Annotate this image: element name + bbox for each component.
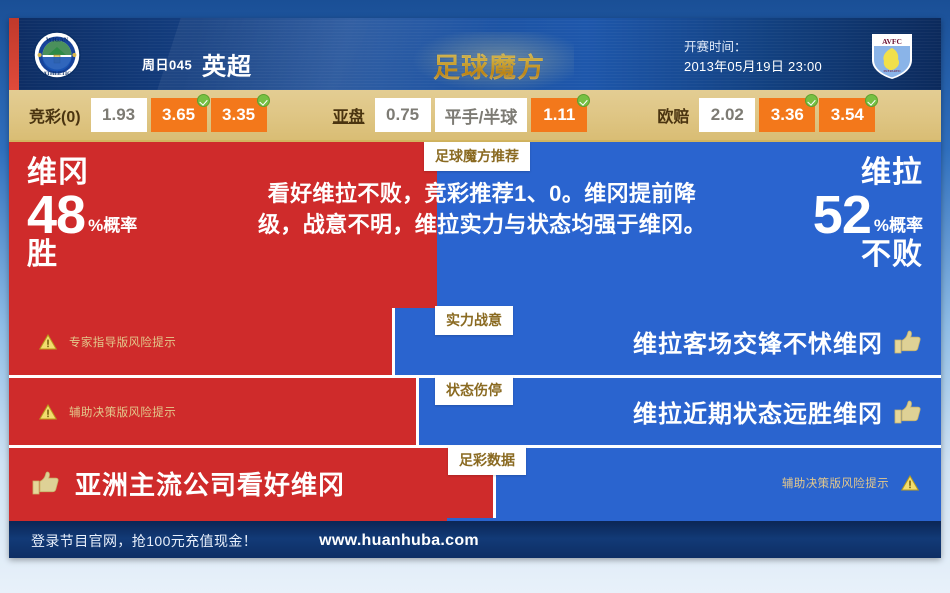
risk-text: 辅助决策版风险提示 bbox=[782, 475, 889, 491]
warning-icon bbox=[39, 334, 57, 350]
row-badge: 状态伤停 bbox=[435, 376, 513, 405]
row-badge: 实力战意 bbox=[435, 306, 513, 335]
odds-bar: 竞彩(0) 1.93 3.65 3.35 亚盘 0.75 平手/半球 1.11 … bbox=[9, 90, 941, 142]
kickoff-label: 开赛时间： bbox=[684, 38, 822, 57]
recommendation-panel: 维冈 48 %概率 胜 维拉 52 %概率 不败 足球魔方推荐 看好维拉不败，竞… bbox=[9, 142, 941, 308]
check-icon bbox=[197, 94, 210, 107]
row-risk-panel-right: 足彩数据 辅助决策版风险提示 bbox=[496, 448, 941, 518]
odds-chip-value: 3.54 bbox=[831, 105, 864, 125]
thumbs-up-icon bbox=[893, 399, 923, 425]
away-team-crest-icon: AVFC PREPARED bbox=[869, 31, 915, 79]
league-name: 英超 bbox=[202, 47, 252, 82]
odds-chip-value: 1.11 bbox=[543, 105, 575, 125]
svg-text:WIGAN: WIGAN bbox=[46, 37, 69, 44]
odds-group-yapan: 亚盘 0.75 平手/半球 1.11 bbox=[333, 98, 592, 132]
warning-icon bbox=[39, 404, 57, 420]
odds-chip[interactable]: 2.02 bbox=[699, 98, 755, 132]
odds-chip[interactable]: 3.54 bbox=[819, 98, 875, 132]
brand-logo: 足球魔方 bbox=[424, 45, 554, 85]
row-message: 维拉近期状态远胜维冈 bbox=[633, 394, 941, 429]
warning-icon bbox=[901, 475, 919, 491]
risk-note: 辅助决策版风险提示 bbox=[782, 475, 941, 491]
row-risk-panel: 专家指导版风险提示 bbox=[9, 308, 395, 375]
check-icon bbox=[865, 94, 878, 107]
away-percent: 52 bbox=[813, 188, 871, 242]
odds-group-label: 亚盘 bbox=[333, 103, 365, 127]
insight-row: 亚洲主流公司看好维冈 足彩数据 辅助决策版风险提示 bbox=[9, 448, 941, 518]
odds-chip[interactable]: 平手/半球 bbox=[435, 98, 528, 132]
home-team-crest-icon: WIGAN ATHLETIC bbox=[33, 31, 81, 79]
risk-text: 辅助决策版风险提示 bbox=[69, 404, 176, 420]
svg-text:ATHLETIC: ATHLETIC bbox=[43, 71, 71, 77]
row-message-panel: 实力战意 维拉客场交锋不怵维冈 bbox=[395, 308, 941, 375]
match-header: WIGAN ATHLETIC 周日045 英超 足球魔方 开赛时间： 2013年… bbox=[9, 18, 941, 90]
check-icon bbox=[257, 94, 270, 107]
odds-chip[interactable]: 3.35 bbox=[211, 98, 267, 132]
risk-text: 专家指导版风险提示 bbox=[69, 334, 176, 350]
match-card: WIGAN ATHLETIC 周日045 英超 足球魔方 开赛时间： 2013年… bbox=[9, 18, 941, 558]
match-number: 周日045 bbox=[142, 55, 192, 74]
header-red-edge bbox=[9, 18, 19, 90]
row-message-text: 维拉近期状态远胜维冈 bbox=[633, 394, 883, 429]
odds-group-jingcai: 竞彩(0) 1.93 3.65 3.35 bbox=[29, 98, 271, 132]
thumbs-up-icon bbox=[31, 470, 61, 496]
kickoff-block: 开赛时间： 2013年05月19日 23:00 bbox=[684, 38, 822, 78]
row-message: 维拉客场交锋不怵维冈 bbox=[633, 324, 941, 359]
odds-chip[interactable]: 3.65 bbox=[151, 98, 207, 132]
odds-group-label: 欧赔 bbox=[657, 103, 689, 127]
row-message-panel: 状态伤停 维拉近期状态远胜维冈 bbox=[419, 378, 941, 445]
check-icon bbox=[805, 94, 818, 107]
row-message-text: 维拉客场交锋不怵维冈 bbox=[633, 324, 883, 359]
insight-row: 辅助决策版风险提示 状态伤停 维拉近期状态远胜维冈 bbox=[9, 378, 941, 448]
row-risk-panel: 辅助决策版风险提示 bbox=[9, 378, 419, 445]
footer-promo: 登录节目官网，抢100元充值现金！ bbox=[31, 531, 257, 551]
odds-chip-value: 3.35 bbox=[222, 105, 255, 125]
odds-group-oupei: 欧赔 2.02 3.36 3.54 bbox=[657, 98, 879, 132]
svg-text:PREPARED: PREPARED bbox=[883, 69, 901, 73]
home-percent: 48 bbox=[27, 188, 85, 242]
odds-chip[interactable]: 1.11 bbox=[531, 98, 587, 132]
thumbs-up-icon bbox=[893, 329, 923, 355]
row-message-text: 亚洲主流公司看好维冈 bbox=[75, 465, 345, 502]
odds-group-label: 竞彩(0) bbox=[29, 103, 81, 127]
away-stats: 维拉 52 %概率 不败 bbox=[813, 156, 923, 271]
odds-chip[interactable]: 3.36 bbox=[759, 98, 815, 132]
odds-chip[interactable]: 1.93 bbox=[91, 98, 147, 132]
odds-chip-value: 3.36 bbox=[771, 105, 804, 125]
row-message: 亚洲主流公司看好维冈 bbox=[9, 465, 345, 502]
row-badge: 足彩数据 bbox=[448, 446, 526, 475]
row-message-panel-left: 亚洲主流公司看好维冈 bbox=[9, 448, 496, 518]
recommendation-badge: 足球魔方推荐 bbox=[424, 142, 530, 171]
risk-note: 辅助决策版风险提示 bbox=[9, 404, 176, 420]
recommendation-text: 看好维拉不败，竞彩推荐1、0。维冈提前降级，战意不明，维拉实力与状态均强于维冈。 bbox=[247, 178, 717, 240]
risk-note: 专家指导版风险提示 bbox=[9, 334, 176, 350]
odds-chip[interactable]: 0.75 bbox=[375, 98, 431, 132]
footer-url[interactable]: www.huanhuba.com bbox=[319, 532, 479, 550]
home-percent-suffix: %概率 bbox=[85, 217, 137, 242]
footer-bar: 登录节目官网，抢100元充值现金！ www.huanhuba.com bbox=[9, 518, 941, 558]
odds-chip-value: 3.65 bbox=[162, 105, 195, 125]
svg-text:AVFC: AVFC bbox=[882, 37, 902, 46]
check-icon bbox=[577, 94, 590, 107]
kickoff-time: 2013年05月19日 23:00 bbox=[684, 57, 822, 77]
home-stats: 维冈 48 %概率 胜 bbox=[27, 156, 137, 271]
insight-rows: 专家指导版风险提示 实力战意 维拉客场交锋不怵维冈 bbox=[9, 308, 941, 518]
insight-row: 专家指导版风险提示 实力战意 维拉客场交锋不怵维冈 bbox=[9, 308, 941, 378]
